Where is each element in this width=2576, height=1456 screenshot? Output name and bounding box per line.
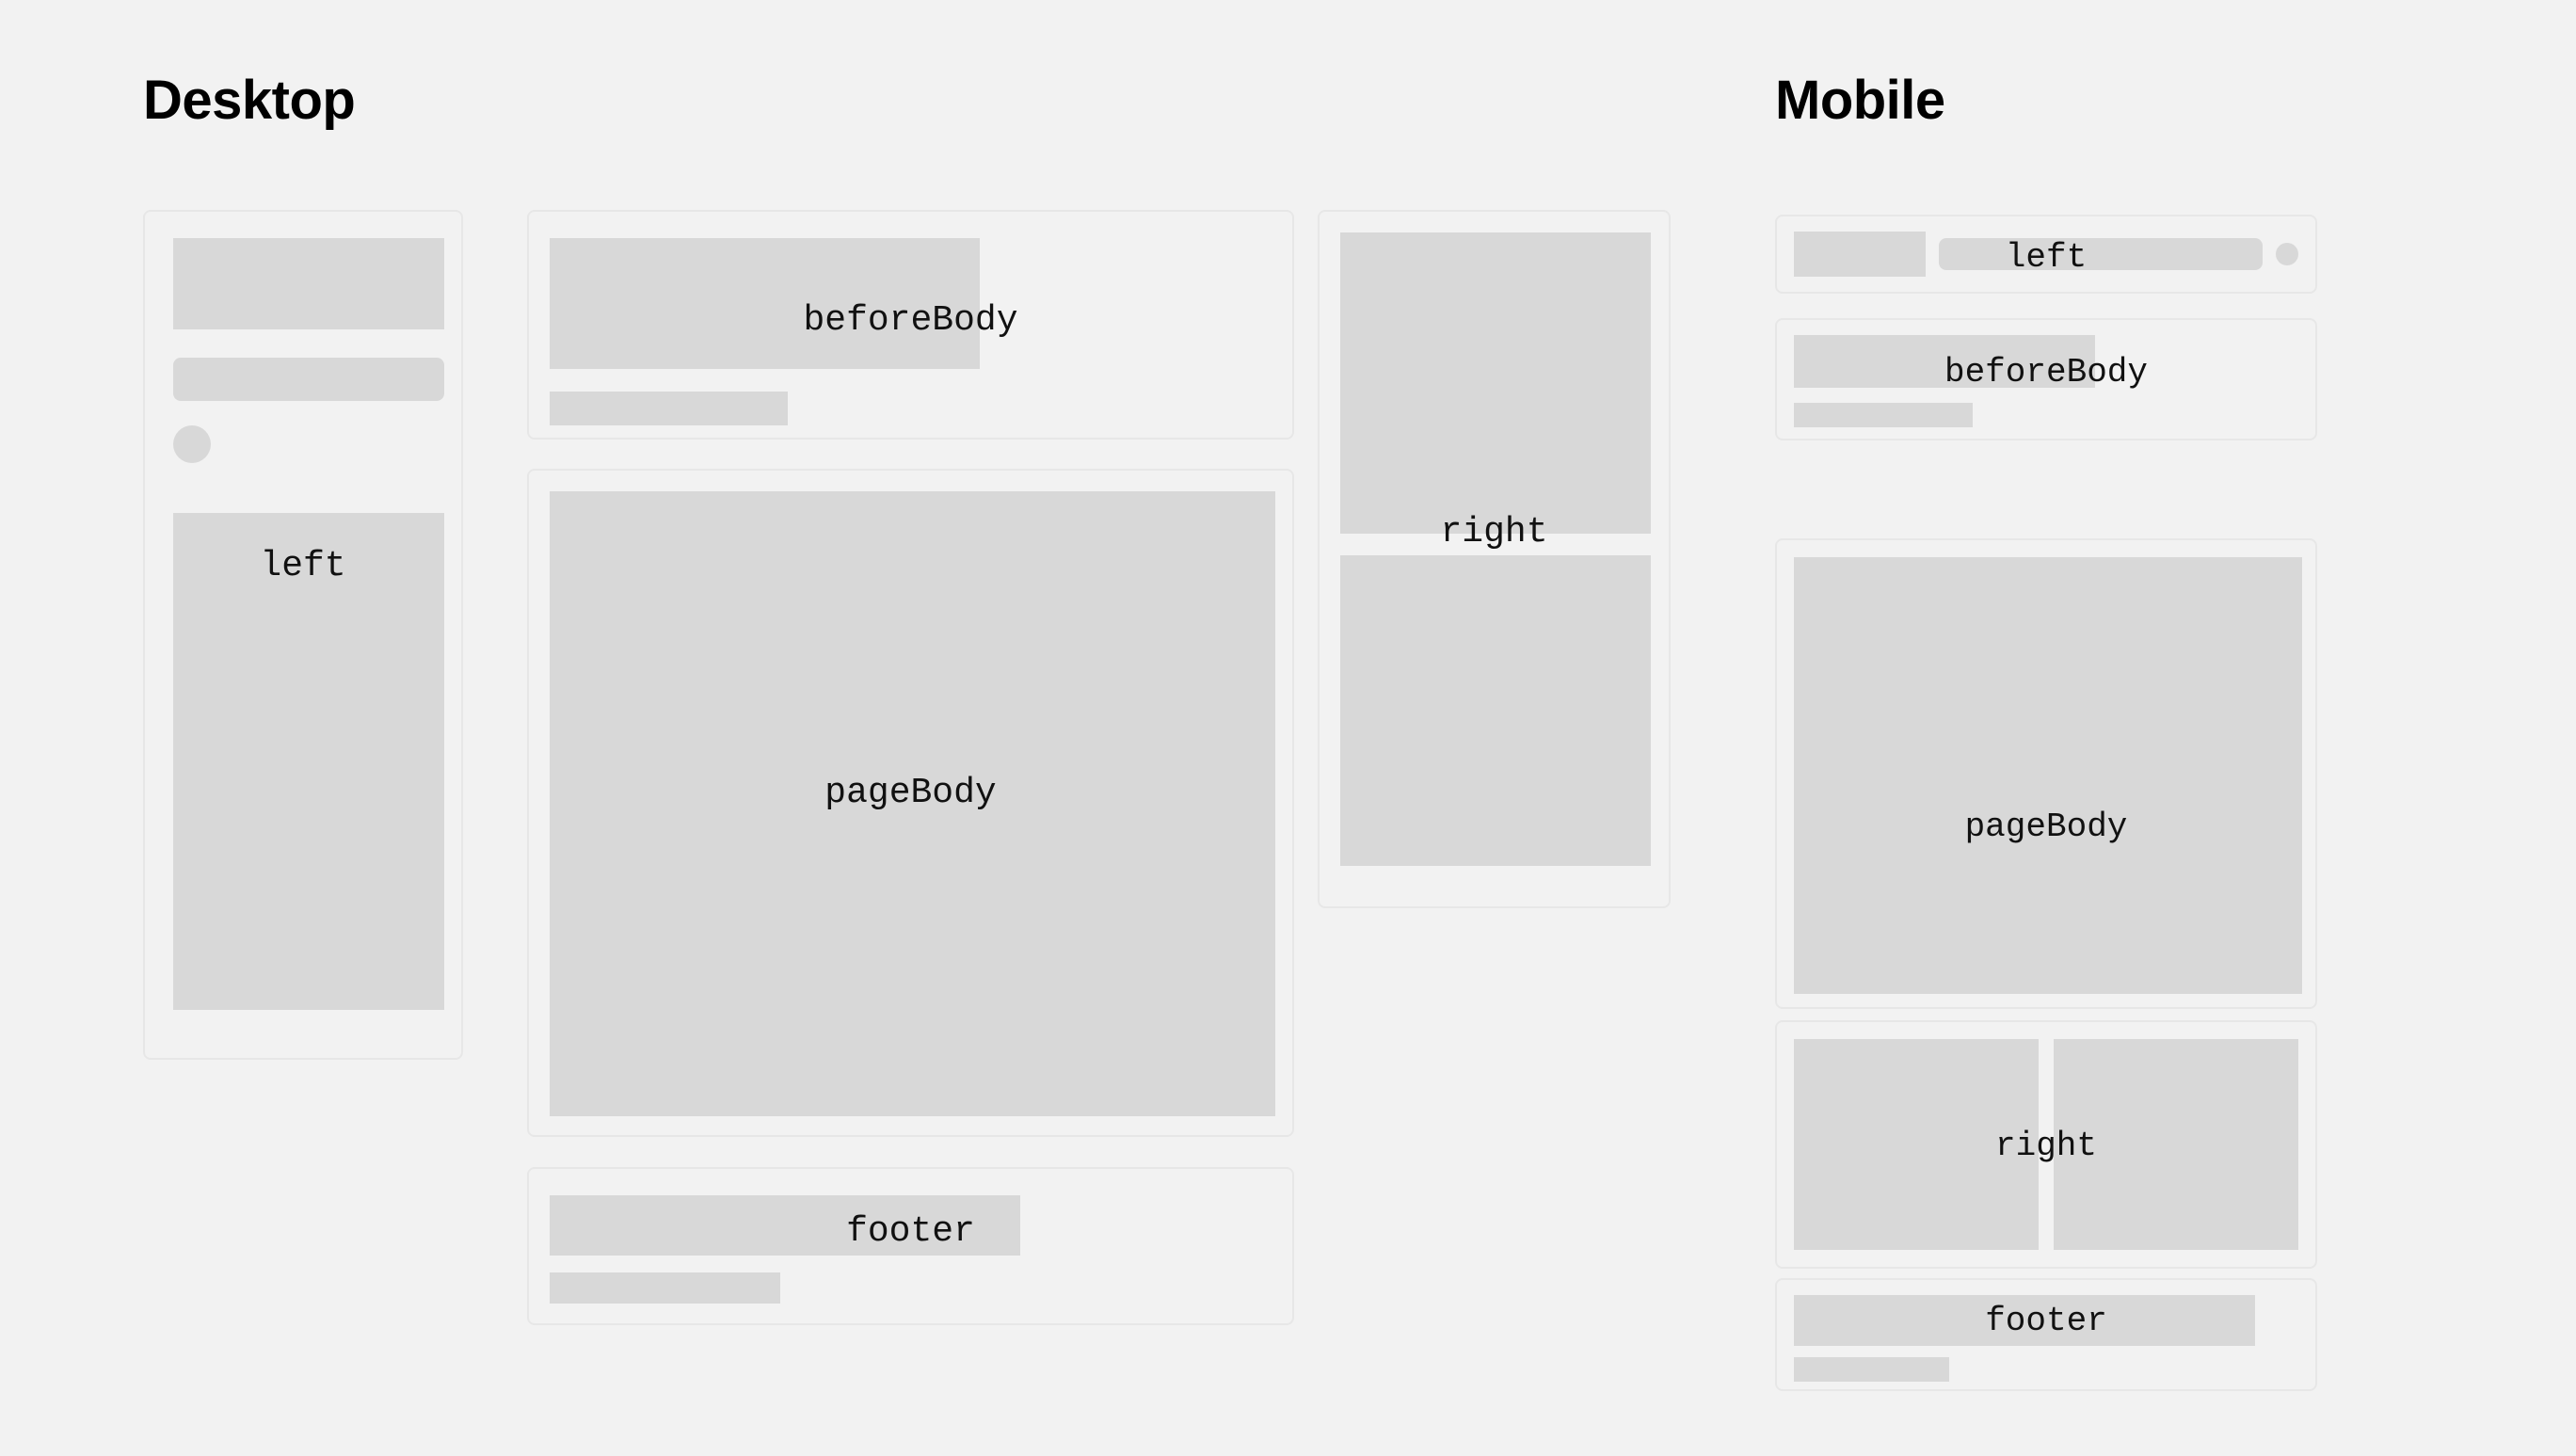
skeleton-bar [550, 1272, 780, 1304]
mobile-left-slot-panel[interactable]: left [1775, 215, 2317, 294]
desktop-left-slot-panel[interactable]: left [143, 210, 463, 1060]
desktop-page-body-slot-panel[interactable]: pageBody [527, 469, 1294, 1137]
mobile-page-body-slot-panel[interactable]: pageBody [1775, 538, 2317, 1009]
skeleton-block [550, 238, 980, 369]
skeleton-bar [550, 392, 788, 425]
skeleton-block [1794, 335, 2095, 388]
mobile-footer-slot-panel[interactable] [1775, 1278, 2317, 1391]
mobile-right-slot-panel[interactable] [1775, 1020, 2317, 1269]
skeleton-bar [1794, 1357, 1949, 1382]
mobile-before-body-slot-panel[interactable]: beforeBody [1775, 318, 2317, 440]
skeleton-block [173, 238, 444, 329]
skeleton-bar [1794, 1295, 2255, 1346]
mobile-section-title: Mobile [1775, 73, 1945, 128]
desktop-section-title: Desktop [143, 73, 355, 128]
skeleton-avatar-circle [173, 425, 211, 463]
skeleton-block [1340, 232, 1651, 534]
skeleton-block [1794, 557, 2302, 994]
skeleton-block [1794, 232, 1926, 277]
skeleton-block [1340, 555, 1651, 866]
skeleton-bar [1939, 238, 2263, 270]
mobile-left-row [1794, 216, 2298, 292]
skeleton-bar [1794, 403, 1973, 427]
desktop-before-body-slot-panel[interactable]: beforeBody [527, 210, 1294, 440]
desktop-footer-slot-panel[interactable] [527, 1167, 1294, 1325]
skeleton-block [550, 491, 1275, 1116]
mobile-right-row [1794, 1039, 2298, 1250]
skeleton-bar [173, 358, 444, 401]
desktop-right-slot-panel[interactable]: right [1318, 210, 1671, 908]
skeleton-block [173, 513, 444, 1010]
skeleton-bar [550, 1195, 1020, 1256]
skeleton-block [1794, 1039, 2039, 1250]
skeleton-avatar-circle [2276, 243, 2298, 265]
skeleton-block [2054, 1039, 2298, 1250]
